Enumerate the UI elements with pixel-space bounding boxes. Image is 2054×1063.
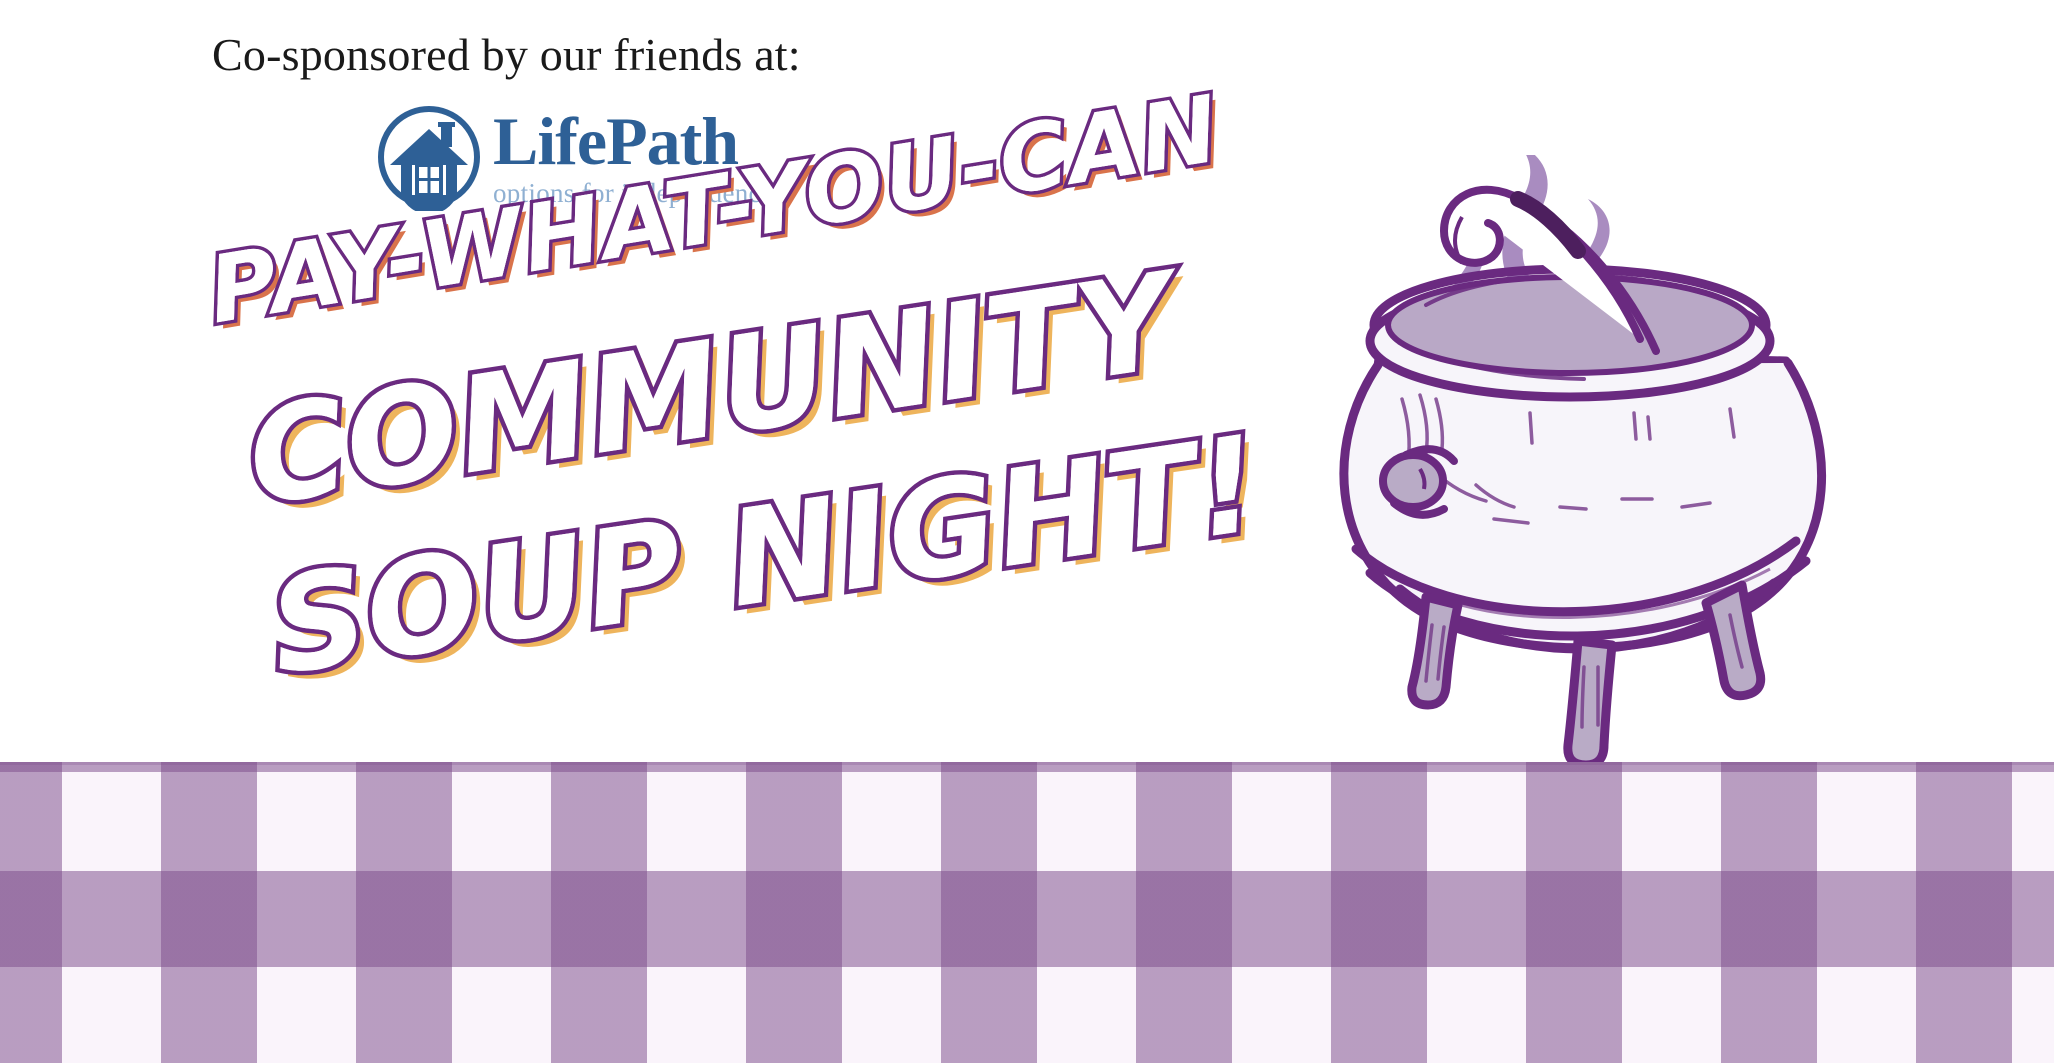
gingham-pattern bbox=[0, 762, 2054, 1063]
headline-line2-face: COMMUNITY bbox=[238, 244, 1184, 536]
gingham-tablecloth bbox=[0, 762, 2054, 1063]
headline-line-soup-night: SOUP NIGHT! SOUP NIGHT! SOUP NIGHT! bbox=[261, 407, 1270, 705]
headline-line3-outline: SOUP NIGHT! bbox=[261, 407, 1270, 705]
soup-cauldron-illustration bbox=[1230, 155, 1930, 815]
headline-line3-face: SOUP NIGHT! bbox=[261, 407, 1270, 705]
house-in-circle-icon bbox=[375, 103, 483, 211]
lifepath-tagline: options for independence bbox=[493, 178, 773, 209]
lifepath-logo: LifePath options for independence bbox=[375, 103, 773, 211]
lifepath-wordmark-block: LifePath options for independence bbox=[493, 103, 773, 209]
poster-canvas: Co-sponsored by our friends at: bbox=[0, 0, 2054, 1063]
tablecloth-top-edge bbox=[0, 762, 2054, 765]
lifepath-wordmark: LifePath bbox=[493, 109, 738, 174]
headline-line2-fill: COMMUNITY bbox=[247, 252, 1193, 544]
co-sponsor-intro-text: Co-sponsored by our friends at: bbox=[212, 28, 801, 81]
headline-line-community: COMMUNITY COMMUNITY COMMUNITY bbox=[238, 244, 1184, 536]
headline-line3-fill: SOUP NIGHT! bbox=[269, 415, 1278, 713]
headline-line2-outline: COMMUNITY bbox=[238, 244, 1184, 536]
